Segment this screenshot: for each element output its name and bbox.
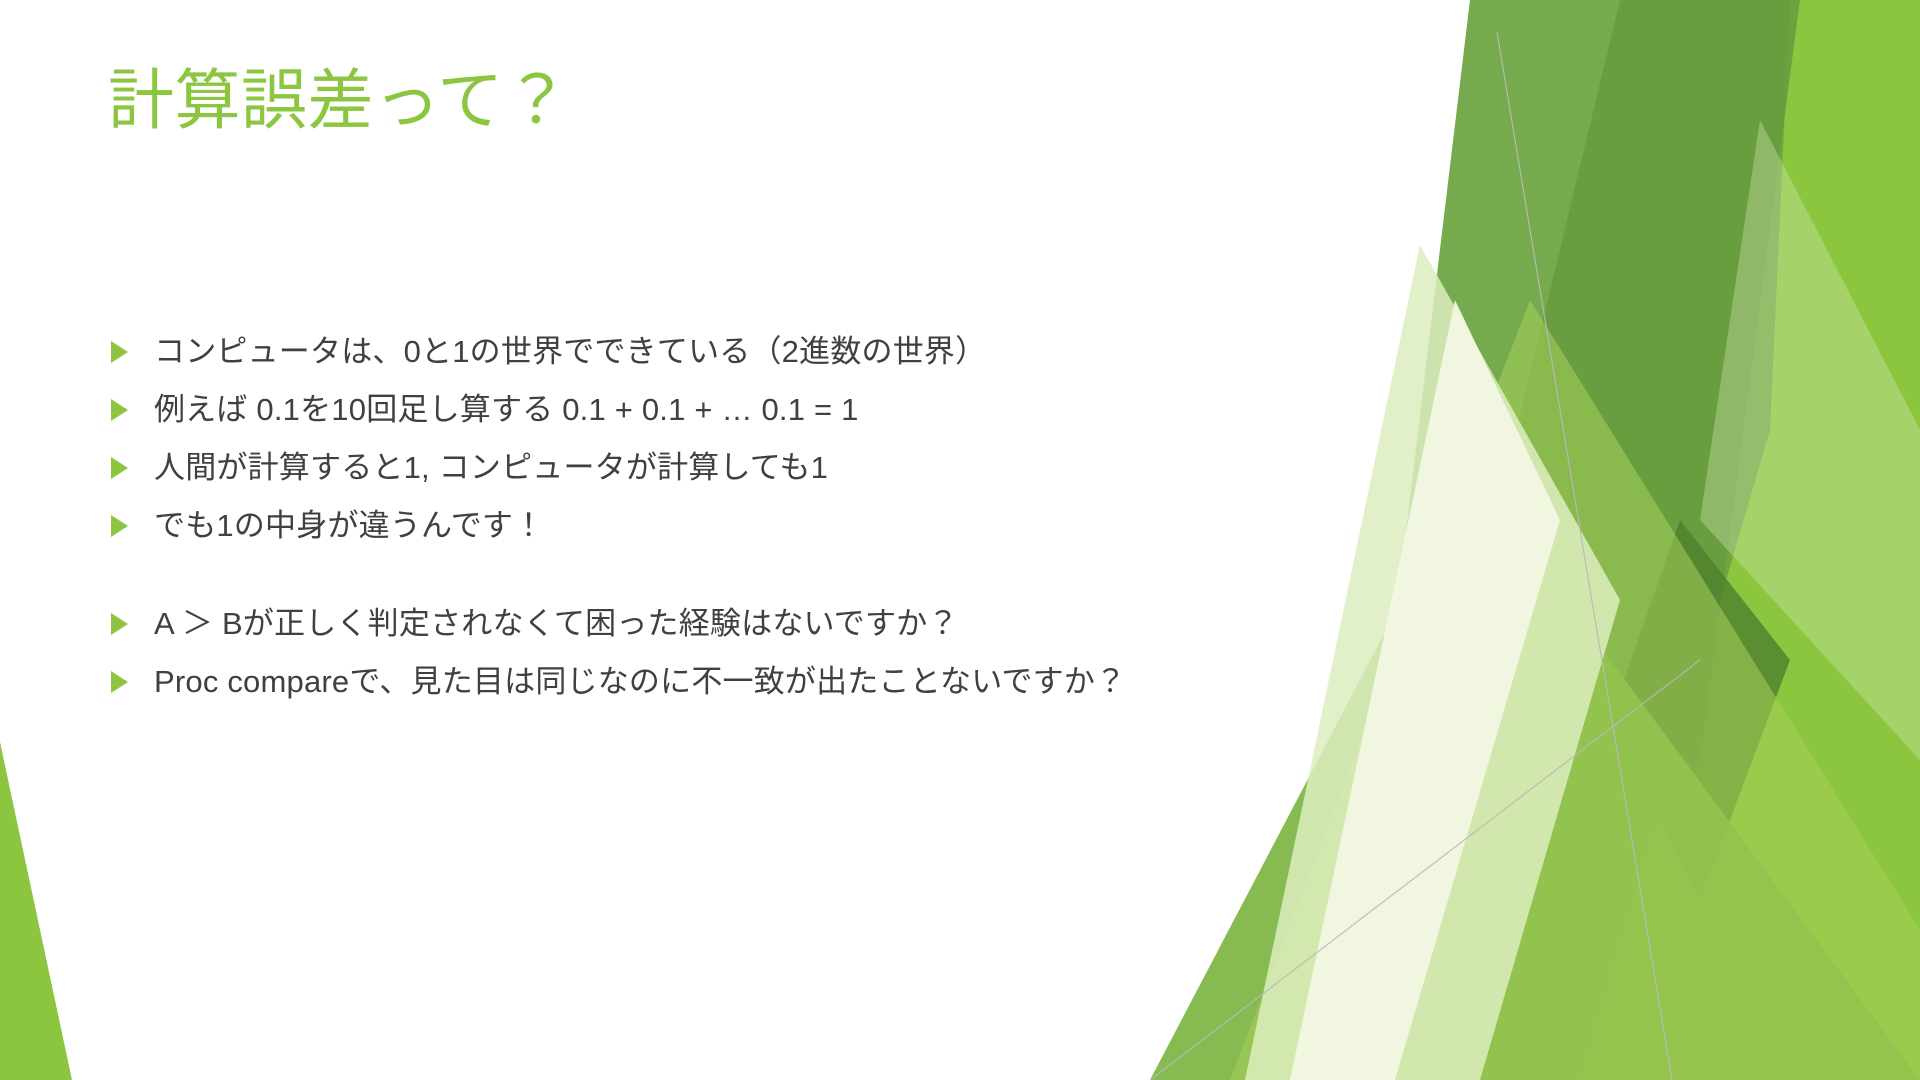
list-item-label: A ＞ Bが正しく判定されなくて困った経験はないですか？ bbox=[154, 602, 959, 646]
list-item: A ＞ Bが正しく判定されなくて困った経験はないですか？ bbox=[108, 602, 1338, 648]
list-item: コンピュータは、0と1の世界でできている（2進数の世界） bbox=[108, 330, 1338, 376]
facet-shape-bright-far-right bbox=[1600, 0, 1920, 1080]
content-placeholder: コンピュータは、0と1の世界でできている（2進数の世界） 例えば 0.1を10回… bbox=[108, 330, 1338, 718]
presentation-slide: 計算誤差って？ コンピュータは、0と1の世界でできている（2進数の世界） 例えば… bbox=[0, 0, 1920, 1080]
triangle-right-bullet-icon bbox=[108, 669, 130, 695]
facet-hairline-vertical bbox=[1497, 32, 1672, 1080]
page-title: 計算誤差って？ bbox=[108, 62, 1288, 140]
triangle-right-bullet-icon bbox=[108, 397, 130, 423]
list-item: 例えば 0.1を10回足し算する 0.1 + 0.1 + … 0.1 = 1 bbox=[108, 388, 1338, 434]
triangle-right-bullet-icon bbox=[108, 611, 130, 637]
facet-shape-corner-left bbox=[0, 742, 72, 1080]
list-item-label: でも1の中身が違うんです！ bbox=[154, 504, 544, 548]
list-item: Proc compareで、見た目は同じなのに不一致が出たことないですか？ bbox=[108, 660, 1338, 706]
facet-hairline-diagonal bbox=[1150, 660, 1700, 1080]
triangle-right-bullet-icon bbox=[108, 455, 130, 481]
list-item: 人間が計算すると1, コンピュータが計算しても1 bbox=[108, 446, 1338, 492]
list-item: でも1の中身が違うんです！ bbox=[108, 504, 1338, 550]
facet-shape-deep-intersect bbox=[1610, 520, 1790, 900]
facet-shape-dark-top bbox=[1340, 0, 1790, 1080]
facet-shape-pale-wash-right bbox=[1700, 120, 1920, 760]
facet-shape-bright-right bbox=[1500, 0, 1920, 1080]
facet-shape-dark-overlap bbox=[1360, 0, 1800, 1080]
list-item-label: Proc compareで、見た目は同じなのに不一致が出たことないですか？ bbox=[154, 660, 1126, 704]
triangle-right-bullet-icon bbox=[108, 513, 130, 539]
title-placeholder: 計算誤差って？ bbox=[108, 62, 1288, 140]
list-item-label: 例えば 0.1を10回足し算する 0.1 + 0.1 + … 0.1 = 1 bbox=[154, 388, 859, 432]
list-item-label: コンピュータは、0と1の世界でできている（2進数の世界） bbox=[154, 330, 986, 374]
list-item-label: 人間が計算すると1, コンピュータが計算しても1 bbox=[154, 446, 828, 490]
triangle-right-bullet-icon bbox=[108, 339, 130, 365]
